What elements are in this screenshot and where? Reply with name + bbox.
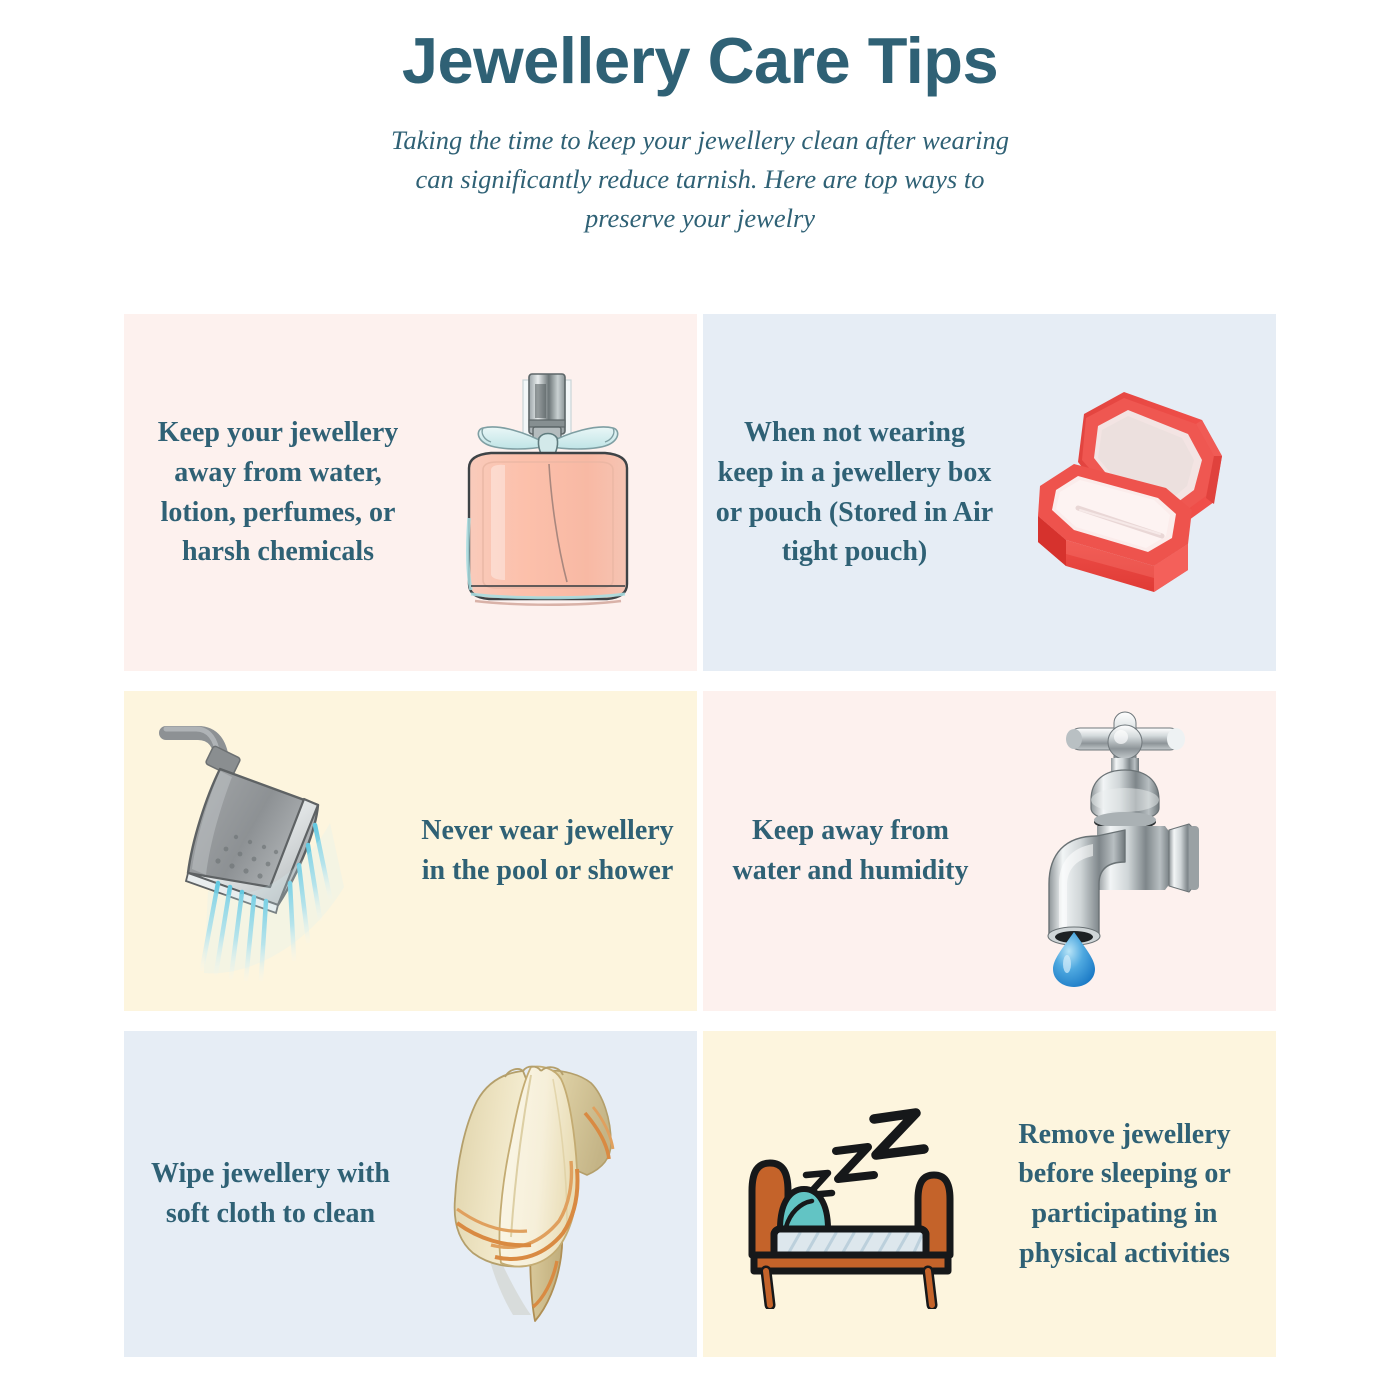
tip-card-text: Never wear jewellery in the pool or show… <box>398 811 697 891</box>
tip-card-text: Keep your jewellery away from water, lot… <box>124 413 424 572</box>
shower-head-icon <box>148 701 398 1001</box>
tip-card-avoid-humidity: Keep away from water and humidity <box>703 691 1276 1011</box>
tip-card-store-in-box: When not wearing keep in a jewellery box… <box>703 314 1276 671</box>
header: Jewellery Care Tips Taking the time to k… <box>0 0 1400 238</box>
tip-card-no-pool-shower: Never wear jewellery in the pool or show… <box>124 691 697 1011</box>
tip-card-text: Wipe jewellery with soft cloth to clean <box>124 1154 417 1234</box>
tips-grid: Keep your jewellery away from water, lot… <box>124 314 1276 1357</box>
polishing-cloth-icon <box>417 1044 667 1344</box>
tip-card-text: When not wearing keep in a jewellery box… <box>703 413 1006 572</box>
faucet-icon <box>998 701 1248 1001</box>
tip-card-text: Keep away from water and humidity <box>703 811 998 891</box>
tip-card-remove-before-sleep: Remove jewellery before sleeping or part… <box>703 1031 1276 1357</box>
bed-sleep-icon <box>723 1064 973 1324</box>
ring-box-icon <box>1006 348 1256 638</box>
page-title: Jewellery Care Tips <box>0 24 1400 99</box>
infographic-page: Jewellery Care Tips Taking the time to k… <box>0 0 1400 1400</box>
tip-card-text: Remove jewellery before sleeping or part… <box>973 1115 1276 1274</box>
page-subtitle: Taking the time to keep your jewellery c… <box>380 121 1020 239</box>
tip-card-avoid-chemicals: Keep your jewellery away from water, lot… <box>124 314 697 671</box>
tip-card-wipe-with-cloth: Wipe jewellery with soft cloth to clean <box>124 1031 697 1357</box>
perfume-bottle-icon <box>424 343 669 643</box>
